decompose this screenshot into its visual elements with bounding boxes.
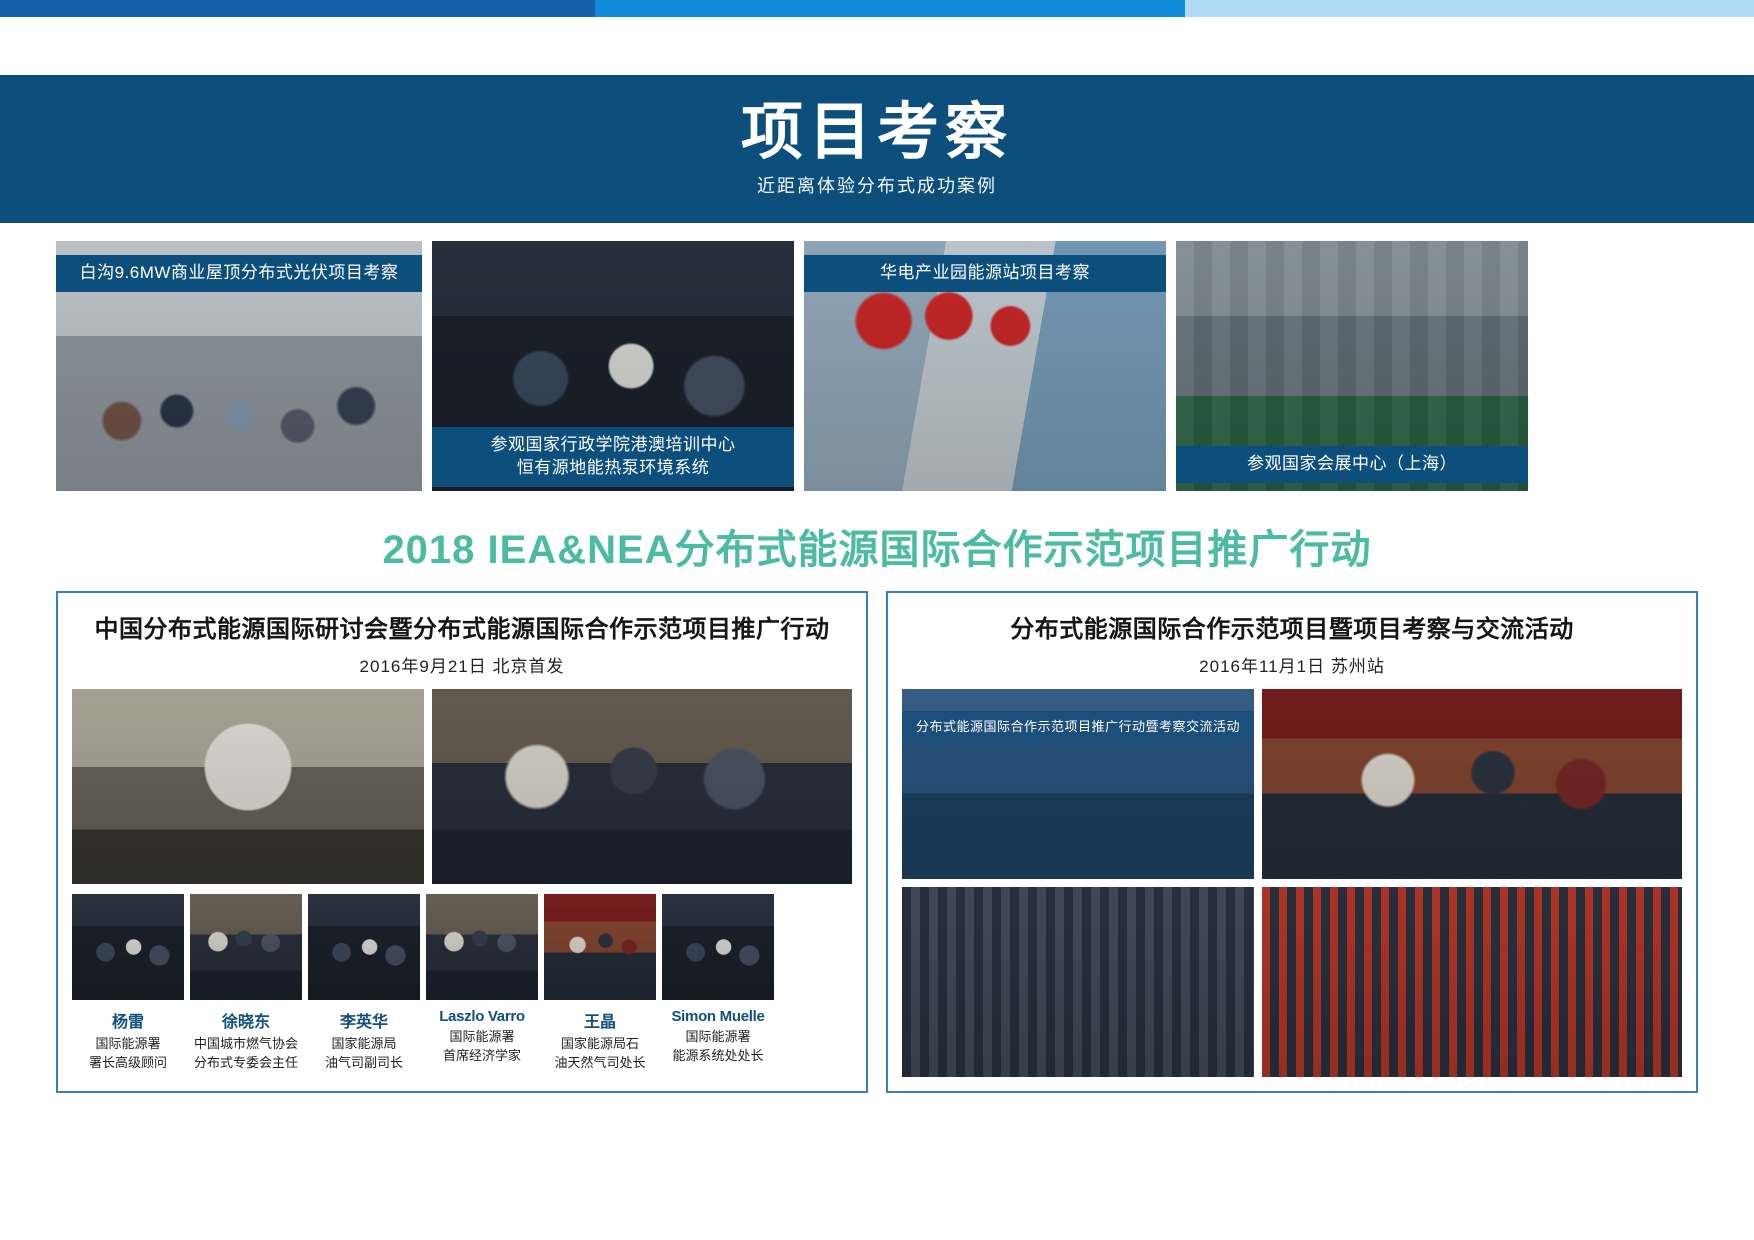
photo-caption: 参观国家会展中心（上海）: [1176, 446, 1528, 483]
photo-group-helmets: [1262, 887, 1682, 1077]
topbar-segment-bright-blue: [595, 0, 1185, 17]
speaker-card: 徐晓东 中国城市燃气协会 分布式专委会主任: [190, 894, 302, 1073]
photo-image: [190, 894, 302, 1000]
panel-date: 2016年11月1日 苏州站: [902, 652, 1682, 677]
photo-caption: 白沟9.6MW商业屋顶分布式光伏项目考察: [56, 255, 422, 292]
photo-caption-line1: 参观国家行政学院港澳培训中心: [436, 434, 790, 457]
topbar-segment-dark-blue: [0, 0, 595, 17]
photo-caption: 华电产业园能源站项目考察: [804, 255, 1166, 292]
photo-huadian-energy-station: 华电产业园能源站项目考察: [804, 241, 1166, 491]
page-title: 项目考察: [741, 100, 1013, 165]
speaker-org: 国家能源局 油气司副司长: [308, 1035, 420, 1073]
speaker-org-line2: 能源系统处处长: [662, 1047, 774, 1066]
speaker-name: 杨雷: [72, 1008, 184, 1032]
speaker-org: 国际能源署 能源系统处处长: [662, 1028, 774, 1066]
panel-suzhou: 分布式能源国际合作示范项目暨项目考察与交流活动 2016年11月1日 苏州站 分…: [886, 591, 1698, 1093]
speaker-org-line1: 国际能源署: [662, 1028, 774, 1047]
photo-image: [662, 894, 774, 1000]
speaker-org-line2: 油天然气司处长: [544, 1054, 656, 1073]
speaker-org: 国际能源署 署长高级顾问: [72, 1035, 184, 1073]
panel-photo-row: [72, 689, 852, 884]
panel-photo-grid: 分布式能源国际合作示范项目推广行动暨考察交流活动: [902, 689, 1682, 1077]
speaker-org-line1: 国家能源局: [308, 1035, 420, 1054]
photo-forum-stage: 分布式能源国际合作示范项目推广行动暨考察交流活动: [902, 689, 1254, 879]
speaker-name: Simon Muelle: [662, 1008, 774, 1025]
speaker-card: Simon Muelle 国际能源署 能源系统处处长: [662, 894, 774, 1073]
photo-image: [432, 689, 852, 884]
photo-image: [1262, 689, 1682, 879]
speaker-photo: [190, 894, 302, 1000]
speaker-org-line1: 中国城市燃气协会: [190, 1035, 302, 1054]
panel-title: 分布式能源国际合作示范项目暨项目考察与交流活动: [902, 609, 1682, 644]
photo-panel-table: [432, 689, 852, 884]
top-color-bar: [0, 0, 1754, 17]
panel-title: 中国分布式能源国际研讨会暨分布式能源国际合作示范项目推广行动: [72, 609, 852, 644]
speaker-photo: [662, 894, 774, 1000]
photo-strip: 白沟9.6MW商业屋顶分布式光伏项目考察 参观国家行政学院港澳培训中心 恒有源地…: [0, 223, 1754, 491]
photo-caption: 参观国家行政学院港澳培训中心 恒有源地能热泵环境系统: [432, 427, 794, 487]
speaker-card: 李英华 国家能源局 油气司副司长: [308, 894, 420, 1073]
speaker-name: 王晶: [544, 1008, 656, 1032]
speaker-org-line2: 油气司副司长: [308, 1054, 420, 1073]
photo-baigou-pv: 白沟9.6MW商业屋顶分布式光伏项目考察: [56, 241, 422, 491]
speaker-photo: [426, 894, 538, 1000]
photo-image: [72, 689, 424, 884]
photo-banner-text: 分布式能源国际合作示范项目推广行动暨考察交流活动: [902, 711, 1254, 743]
panel-date: 2016年9月21日 北京首发: [72, 652, 852, 677]
speaker-photo: [544, 894, 656, 1000]
speaker-org-line2: 分布式专委会主任: [190, 1054, 302, 1073]
photo-caption-line2: 恒有源地能热泵环境系统: [436, 457, 790, 480]
panels-container: 中国分布式能源国际研讨会暨分布式能源国际合作示范项目推广行动 2016年9月21…: [0, 591, 1754, 1093]
photo-expo-center-shanghai: 参观国家会展中心（上海）: [1176, 241, 1528, 491]
speaker-photo: [72, 894, 184, 1000]
speaker-photo: [308, 894, 420, 1000]
speaker-card: Laszlo Varro 国际能源署 首席经济学家: [426, 894, 538, 1073]
speaker-org: 国家能源局石 油天然气司处长: [544, 1035, 656, 1073]
hero-banner: 项目考察 近距离体验分布式成功案例: [0, 75, 1754, 223]
speaker-org-line1: 国际能源署: [426, 1028, 538, 1047]
photo-group-indoor: [902, 887, 1254, 1077]
speaker-org-line1: 国际能源署: [72, 1035, 184, 1054]
photo-image: [426, 894, 538, 1000]
page-subtitle: 近距离体验分布式成功案例: [757, 172, 997, 198]
photo-signing: [1262, 689, 1682, 879]
speaker-org-line1: 国家能源局石: [544, 1035, 656, 1054]
photo-training-center: 参观国家行政学院港澳培训中心 恒有源地能热泵环境系统: [432, 241, 794, 491]
speaker-name: Laszlo Varro: [426, 1008, 538, 1025]
speaker-row: 杨雷 国际能源署 署长高级顾问 徐晓东 中国城市燃气协会 分布式专委会主任 李英…: [72, 894, 852, 1073]
speaker-org-line2: 署长高级顾问: [72, 1054, 184, 1073]
photo-image: [1262, 887, 1682, 1077]
section-title: 2018 IEA&NEA分布式能源国际合作示范项目推广行动: [0, 517, 1754, 575]
speaker-org-line2: 首席经济学家: [426, 1047, 538, 1066]
photo-conference-hall: [72, 689, 424, 884]
speaker-org: 中国城市燃气协会 分布式专委会主任: [190, 1035, 302, 1073]
speaker-card: 杨雷 国际能源署 署长高级顾问: [72, 894, 184, 1073]
speaker-name: 李英华: [308, 1008, 420, 1032]
photo-image: [902, 887, 1254, 1077]
speaker-name: 徐晓东: [190, 1008, 302, 1032]
speaker-org: 国际能源署 首席经济学家: [426, 1028, 538, 1066]
photo-image: [72, 894, 184, 1000]
photo-image: [544, 894, 656, 1000]
speaker-card: 王晶 国家能源局石 油天然气司处长: [544, 894, 656, 1073]
photo-image: [308, 894, 420, 1000]
topbar-segment-light-blue: [1185, 0, 1754, 17]
panel-beijing: 中国分布式能源国际研讨会暨分布式能源国际合作示范项目推广行动 2016年9月21…: [56, 591, 868, 1093]
